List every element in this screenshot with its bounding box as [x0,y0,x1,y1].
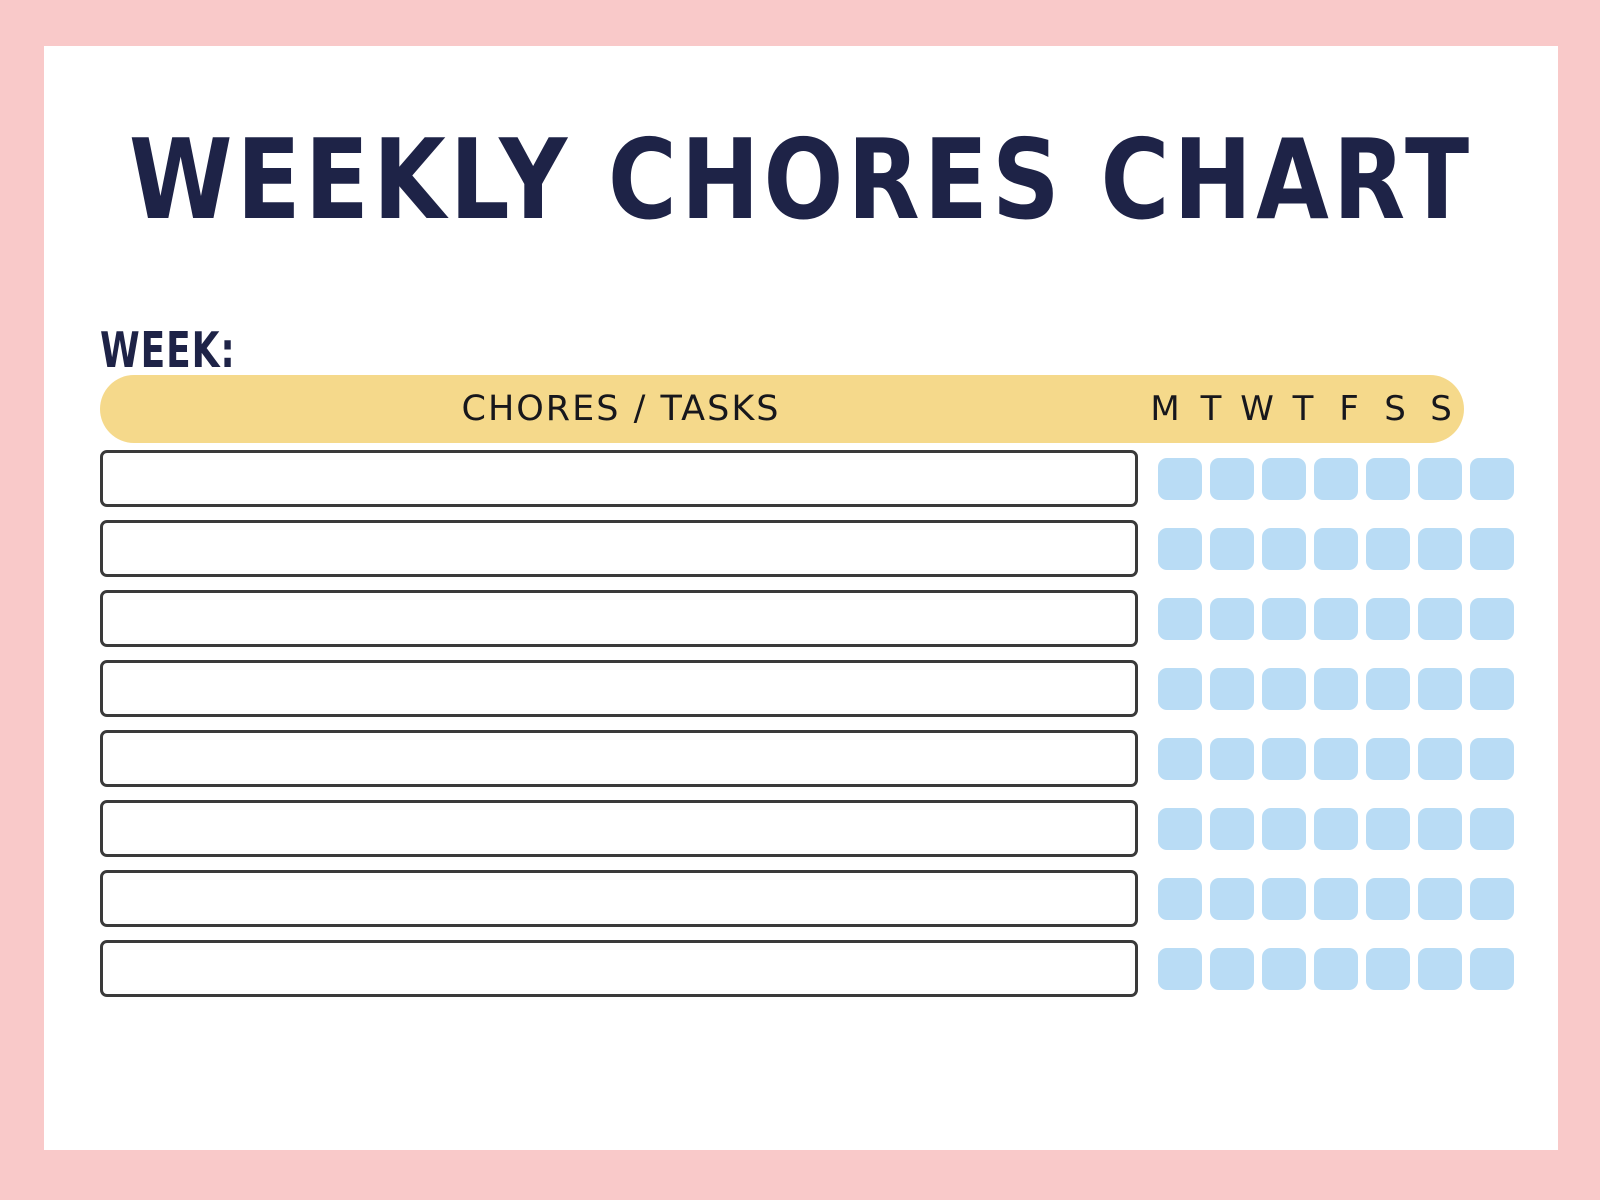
day-checkbox-r5-d3[interactable] [1314,808,1358,850]
task-input-6[interactable] [100,870,1138,927]
day-checkbox-r4-d1[interactable] [1210,738,1254,780]
chore-chart-page: WEEKLY CHORES CHART WEEK: CHORES / TASKS… [0,0,1600,1200]
checkbox-cell [1466,528,1518,570]
day-checkbox-r1-d6[interactable] [1470,528,1514,570]
table-header-bar: CHORES / TASKS MTWTFSS [100,375,1464,443]
day-checkbox-r6-d4[interactable] [1366,878,1410,920]
checkbox-cell [1414,738,1466,780]
checkbox-cell [1466,598,1518,640]
table-row [100,730,1464,787]
day-checkbox-r2-d3[interactable] [1314,598,1358,640]
day-checkbox-r6-d6[interactable] [1470,878,1514,920]
checkbox-cell [1258,738,1310,780]
checkbox-cell [1154,738,1206,780]
checkbox-cell [1154,528,1206,570]
day-checkbox-r5-d2[interactable] [1262,808,1306,850]
table-row [100,870,1464,927]
table-row [100,590,1464,647]
page-title: WEEKLY CHORES CHART [44,126,1558,237]
day-checkbox-r6-d0[interactable] [1158,878,1202,920]
checkbox-cell [1466,948,1518,990]
day-checkbox-r0-d1[interactable] [1210,458,1254,500]
day-checkbox-r5-d5[interactable] [1418,808,1462,850]
day-checkbox-r4-d2[interactable] [1262,738,1306,780]
chart-sheet: WEEKLY CHORES CHART WEEK: CHORES / TASKS… [44,46,1558,1150]
day-checkbox-r2-d5[interactable] [1418,598,1462,640]
table-row [100,660,1464,717]
checkbox-cell [1362,598,1414,640]
checkbox-cell [1206,948,1258,990]
checkbox-cell [1414,878,1466,920]
day-checkbox-r6-d3[interactable] [1314,878,1358,920]
day-checkbox-r7-d6[interactable] [1470,948,1514,990]
chores-tasks-column-header: CHORES / TASKS [100,375,1142,443]
day-checkbox-r2-d2[interactable] [1262,598,1306,640]
day-checkbox-r2-d0[interactable] [1158,598,1202,640]
day-header-1: T [1188,375,1234,443]
chore-rows [100,450,1464,1010]
day-checkbox-r3-d4[interactable] [1366,668,1410,710]
week-label: WEEK: [100,318,236,384]
task-input-0[interactable] [100,450,1138,507]
day-checkbox-r7-d4[interactable] [1366,948,1410,990]
day-checkbox-r0-d4[interactable] [1366,458,1410,500]
checkbox-group-row-1 [1154,520,1518,577]
checkbox-cell [1466,458,1518,500]
day-checkbox-r2-d4[interactable] [1366,598,1410,640]
checkbox-cell [1362,878,1414,920]
task-input-4[interactable] [100,730,1138,787]
day-header-3: T [1280,375,1326,443]
day-checkbox-r2-d1[interactable] [1210,598,1254,640]
day-checkbox-r5-d6[interactable] [1470,808,1514,850]
day-checkbox-r4-d3[interactable] [1314,738,1358,780]
checkbox-group-row-5 [1154,800,1518,857]
checkbox-cell [1258,598,1310,640]
checkbox-cell [1206,668,1258,710]
checkbox-cell [1258,878,1310,920]
checkbox-cell [1206,738,1258,780]
table-row [100,800,1464,857]
day-checkbox-r7-d3[interactable] [1314,948,1358,990]
day-checkbox-r0-d2[interactable] [1262,458,1306,500]
checkbox-cell [1258,948,1310,990]
day-checkbox-r0-d3[interactable] [1314,458,1358,500]
checkbox-cell [1466,808,1518,850]
checkbox-cell [1206,808,1258,850]
day-columns-header: MTWTFSS [1142,375,1464,443]
checkbox-cell [1414,528,1466,570]
checkbox-group-row-6 [1154,870,1518,927]
checkbox-cell [1414,458,1466,500]
day-checkbox-r0-d5[interactable] [1418,458,1462,500]
day-checkbox-r7-d1[interactable] [1210,948,1254,990]
checkbox-cell [1258,808,1310,850]
checkbox-cell [1310,458,1362,500]
day-checkbox-r3-d2[interactable] [1262,668,1306,710]
day-checkbox-r7-d5[interactable] [1418,948,1462,990]
day-header-0: M [1142,375,1188,443]
checkbox-group-row-3 [1154,660,1518,717]
day-checkbox-r6-d1[interactable] [1210,878,1254,920]
table-row [100,940,1464,997]
table-row [100,520,1464,577]
day-checkbox-r3-d0[interactable] [1158,668,1202,710]
checkbox-cell [1310,878,1362,920]
checkbox-cell [1362,458,1414,500]
checkbox-cell [1414,598,1466,640]
day-checkbox-r2-d6[interactable] [1470,598,1514,640]
task-input-1[interactable] [100,520,1138,577]
checkbox-cell [1310,808,1362,850]
day-checkbox-r3-d3[interactable] [1314,668,1358,710]
day-checkbox-r1-d1[interactable] [1210,528,1254,570]
day-checkbox-r0-d6[interactable] [1470,458,1514,500]
day-checkbox-r6-d2[interactable] [1262,878,1306,920]
checkbox-cell [1362,668,1414,710]
day-checkbox-r4-d6[interactable] [1470,738,1514,780]
checkbox-cell [1362,738,1414,780]
checkbox-cell [1154,878,1206,920]
day-checkbox-r1-d5[interactable] [1418,528,1462,570]
checkbox-cell [1154,458,1206,500]
day-checkbox-r5-d1[interactable] [1210,808,1254,850]
checkbox-cell [1310,598,1362,640]
checkbox-cell [1258,458,1310,500]
task-input-7[interactable] [100,940,1138,997]
day-checkbox-r1-d2[interactable] [1262,528,1306,570]
day-checkbox-r3-d1[interactable] [1210,668,1254,710]
day-checkbox-r4-d4[interactable] [1366,738,1410,780]
checkbox-cell [1466,668,1518,710]
day-checkbox-r0-d0[interactable] [1158,458,1202,500]
checkbox-cell [1258,528,1310,570]
checkbox-group-row-0 [1154,450,1518,507]
checkbox-group-row-7 [1154,940,1518,997]
checkbox-group-row-4 [1154,730,1518,787]
day-checkbox-r4-d0[interactable] [1158,738,1202,780]
checkbox-cell [1466,878,1518,920]
day-checkbox-r1-d3[interactable] [1314,528,1358,570]
checkbox-cell [1206,598,1258,640]
checkbox-cell [1154,948,1206,990]
day-checkbox-r3-d5[interactable] [1418,668,1462,710]
day-checkbox-r6-d5[interactable] [1418,878,1462,920]
day-checkbox-r3-d6[interactable] [1470,668,1514,710]
checkbox-cell [1310,948,1362,990]
checkbox-cell [1414,948,1466,990]
day-header-5: S [1372,375,1418,443]
checkbox-cell [1362,808,1414,850]
task-input-2[interactable] [100,590,1138,647]
checkbox-cell [1310,738,1362,780]
checkbox-cell [1362,948,1414,990]
checkbox-cell [1206,458,1258,500]
checkbox-cell [1206,878,1258,920]
day-checkbox-r5-d0[interactable] [1158,808,1202,850]
day-checkbox-r5-d4[interactable] [1366,808,1410,850]
checkbox-cell [1466,738,1518,780]
checkbox-cell [1206,528,1258,570]
checkbox-cell [1310,528,1362,570]
day-header-6: S [1418,375,1464,443]
task-input-3[interactable] [100,660,1138,717]
day-checkbox-r1-d4[interactable] [1366,528,1410,570]
day-checkbox-r7-d0[interactable] [1158,948,1202,990]
day-header-2: W [1234,375,1280,443]
checkbox-group-row-2 [1154,590,1518,647]
table-row [100,450,1464,507]
checkbox-cell [1414,668,1466,710]
checkbox-cell [1362,528,1414,570]
day-checkbox-r4-d5[interactable] [1418,738,1462,780]
day-header-4: F [1326,375,1372,443]
checkbox-cell [1258,668,1310,710]
task-input-5[interactable] [100,800,1138,857]
day-checkbox-r1-d0[interactable] [1158,528,1202,570]
checkbox-cell [1154,598,1206,640]
checkbox-cell [1414,808,1466,850]
checkbox-cell [1310,668,1362,710]
checkbox-cell [1154,808,1206,850]
day-checkbox-r7-d2[interactable] [1262,948,1306,990]
checkbox-cell [1154,668,1206,710]
